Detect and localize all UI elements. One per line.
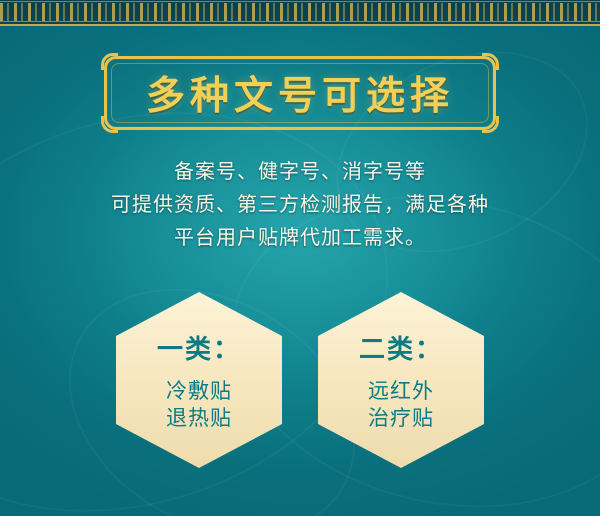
category-item: 冷敷贴: [166, 378, 232, 405]
category-item: 治疗贴: [368, 405, 434, 432]
category-hexagon-row: 一类： 冷敷贴 退热贴 二类： 远红外 治疗贴: [0, 292, 600, 472]
category-item: 退热贴: [166, 405, 232, 432]
top-ornamental-border: [0, 0, 600, 26]
poster-root: 多种文号可选择 备案号、健字号、消字号等 可提供资质、第三方检测报告，满足各种 …: [0, 0, 600, 516]
description-line-2: 可提供资质、第三方检测报告，满足各种: [0, 188, 600, 221]
border-pattern: [0, 3, 600, 21]
border-line-top: [0, 1, 600, 2]
description-block: 备案号、健字号、消字号等 可提供资质、第三方检测报告，满足各种 平台用户贴牌代加…: [0, 155, 600, 254]
description-line-3: 平台用户贴牌代加工需求。: [0, 221, 600, 254]
category-item: 远红外: [368, 378, 434, 405]
title-plaque: 多种文号可选择: [104, 56, 496, 130]
category-hexagon-second: 二类： 远红外 治疗贴: [318, 292, 484, 468]
category-hexagon-first: 一类： 冷敷贴 退热贴: [116, 292, 282, 468]
page-title: 多种文号可选择: [104, 56, 496, 130]
category-heading: 一类：: [157, 329, 241, 366]
category-heading: 二类：: [359, 329, 443, 366]
description-line-1: 备案号、健字号、消字号等: [0, 155, 600, 188]
border-line-bottom: [0, 21, 600, 22]
